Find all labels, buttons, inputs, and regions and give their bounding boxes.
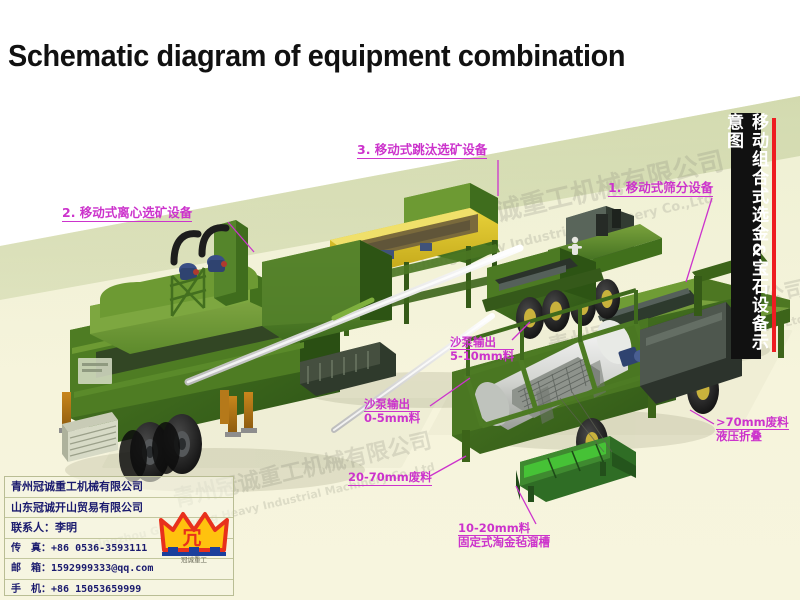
callout-label-3: 3. 移动式跳汰选矿设备 — [357, 143, 487, 159]
vertical-title-banner: 移动组合式选金&宝石设备示意图 — [731, 113, 761, 359]
callout-pump-0-5-line2: 0-5mm料 — [364, 411, 420, 425]
company-name-line-1: 青州冠诚重工机械有限公司 — [5, 477, 233, 498]
callout-pump-5-10-line2: 5-10mm料 — [450, 349, 514, 363]
callout-label-3-text: 3. 移动式跳汰选矿设备 — [357, 143, 487, 159]
callout-label-pump-5-10: 沙泵输出 5-10mm料 — [450, 336, 514, 363]
callout-sluice-line1: 10-20mm料 — [458, 522, 550, 536]
vertical-title-text: 移动组合式选金&宝石设备示意图 — [721, 113, 771, 359]
callout-label-2-text: 2. 移动式离心选矿设备 — [62, 206, 192, 222]
banner-red-accent-bar — [772, 118, 776, 352]
callout-sluice-line2: 固定式淘金毡溜槽 — [458, 535, 550, 549]
schematic-canvas: Schematic diagram of equipment combinati… — [0, 0, 800, 600]
logo-caption: 冠诚重工 — [181, 555, 208, 564]
callout-label-sluice: 10-20mm料 固定式淘金毡溜槽 — [458, 522, 550, 549]
guancheng-crown-logo: 冗 冠诚重工 — [158, 506, 230, 564]
callout-waste-70-line2: 液压折叠 — [716, 429, 762, 443]
equipment-mobile-centrifugal-concentrator — [59, 220, 396, 482]
callout-label-1: 1. 移动式筛分设备 — [608, 181, 713, 197]
callout-waste-70-line1: >70mm废料 — [716, 416, 789, 430]
callout-label-2: 2. 移动式离心选矿设备 — [62, 206, 192, 222]
crown-monogram: 冗 — [182, 527, 201, 549]
callout-pump-0-5-line1: 沙泵输出 — [364, 398, 420, 412]
callout-label-pump-0-5: 沙泵输出 0-5mm料 — [364, 398, 420, 425]
callout-waste-20-70-text: 20-70mm废料 — [348, 471, 432, 486]
mobile-row: 手 机：+86 15053659999 — [5, 580, 233, 600]
callout-label-waste-70: >70mm废料 液压折叠 — [716, 416, 789, 443]
callout-label-1-text: 1. 移动式筛分设备 — [608, 181, 713, 197]
callout-pump-5-10-line1: 沙泵输出 — [450, 336, 514, 350]
callout-label-waste-20-70: 20-70mm废料 — [348, 471, 432, 486]
